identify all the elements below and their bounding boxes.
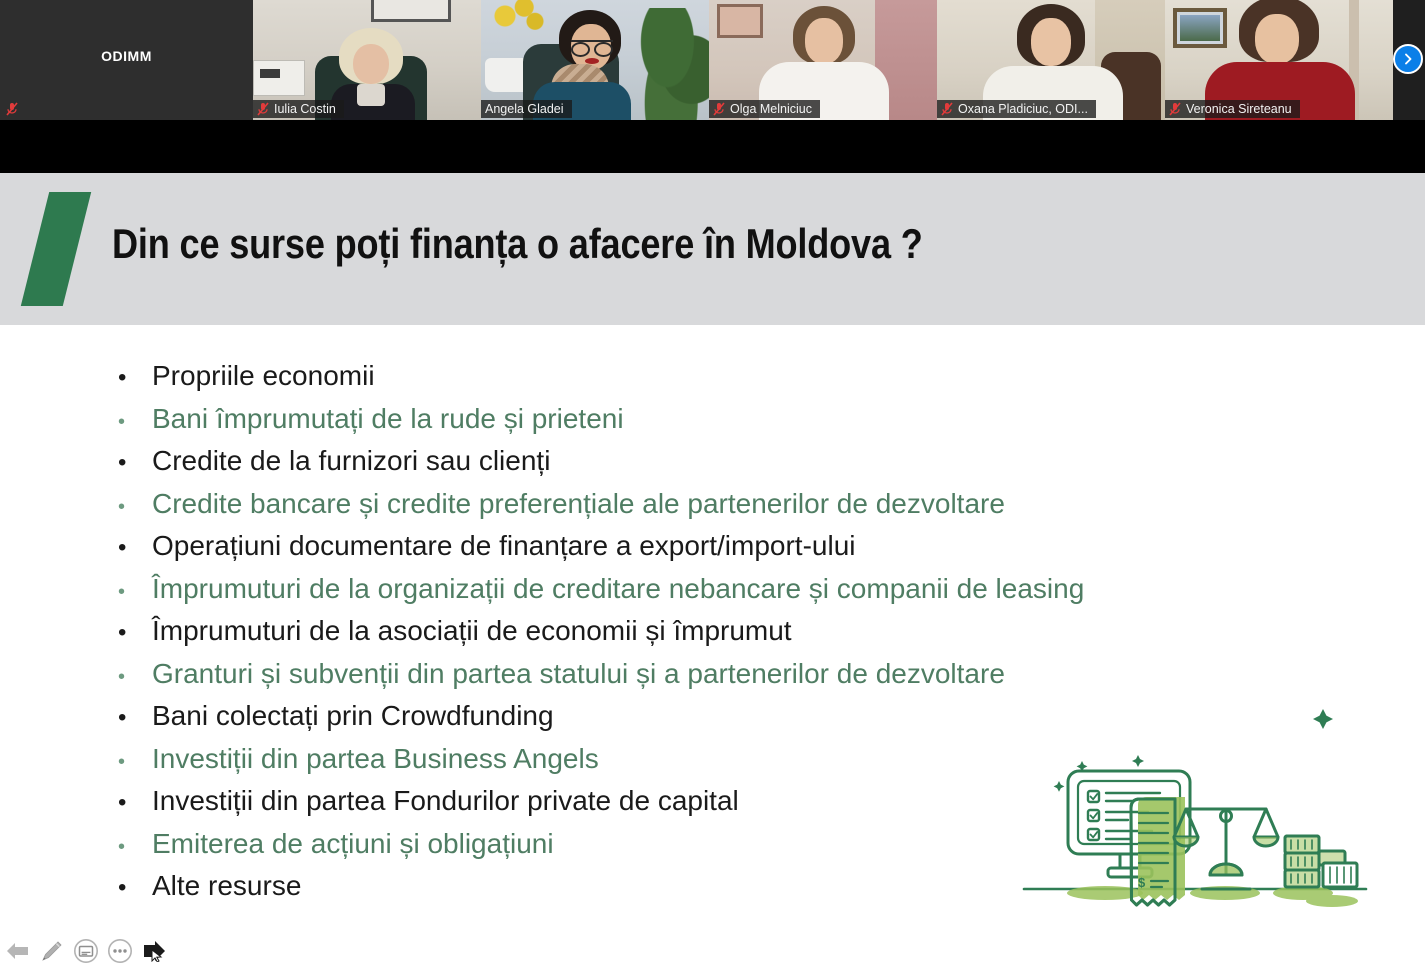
- participant-name: Olga Melniciuc: [730, 102, 812, 116]
- odimm-logo-label: ODIMM: [0, 48, 253, 64]
- presentation-screen: ODIMM Iulia Costin: [0, 0, 1425, 971]
- list-item: • Împrumuturi de la asociații de economi…: [0, 610, 1425, 653]
- mic-muted-icon: [713, 102, 725, 116]
- list-item: • Credite bancare și credite preferenția…: [0, 483, 1425, 526]
- mic-muted-icon: [257, 102, 269, 116]
- forward-arrow-cursor-icon[interactable]: [139, 936, 168, 965]
- participant-nameplate: Olga Melniciuc: [709, 100, 820, 118]
- whiteboard-icon[interactable]: [71, 936, 100, 965]
- video-tile-oxana-pladiciuc[interactable]: Oxana Pladiciuc, ODI...: [937, 0, 1165, 120]
- participant-nameplate: Angela Gladei: [481, 100, 572, 118]
- bullet-dot-icon: •: [118, 867, 152, 910]
- video-tile-veronica-sireteanu[interactable]: Veronica Sireteanu: [1165, 0, 1393, 120]
- list-item: • Bani colectați prin Crowdfunding: [0, 695, 1425, 738]
- list-item-label: Bani împrumutați de la rude și prieteni: [152, 398, 624, 441]
- pencil-icon[interactable]: [37, 936, 66, 965]
- more-options-icon[interactable]: [105, 936, 134, 965]
- mic-muted-icon: [941, 102, 953, 116]
- list-item: • Alte resurse: [0, 865, 1425, 908]
- bullet-dot-icon: •: [118, 401, 152, 444]
- video-tile-olga-melniciuc[interactable]: Olga Melniciuc: [709, 0, 937, 120]
- bullet-dot-icon: •: [118, 486, 152, 529]
- participant-nameplate: Veronica Sireteanu: [1165, 100, 1300, 118]
- participant-name: Angela Gladei: [485, 102, 564, 116]
- bullet-dot-icon: •: [118, 782, 152, 825]
- bullet-dot-icon: •: [118, 697, 152, 740]
- back-arrow-icon[interactable]: [3, 936, 32, 965]
- presentation-toolbar: [0, 930, 170, 971]
- participant-nameplate: Oxana Pladiciuc, ODI...: [937, 100, 1096, 118]
- slide-header: Din ce surse poți finanța o afacere în M…: [0, 173, 1425, 325]
- video-tile-angela-gladei[interactable]: Angela Gladei: [481, 0, 709, 120]
- list-item-label: Credite de la furnizori sau clienți: [152, 440, 550, 483]
- participant-name: Iulia Costin: [274, 102, 336, 116]
- participant-name: Oxana Pladiciuc, ODI...: [958, 102, 1088, 116]
- list-item: • Credite de la furnizori sau clienți: [0, 440, 1425, 483]
- list-item-label: Credite bancare și credite preferențiale…: [152, 483, 1005, 526]
- list-item-label: Granturi și subvenții din partea statulu…: [152, 653, 1005, 696]
- screen-share-letterbox: [0, 120, 1425, 173]
- bullet-dot-icon: •: [118, 826, 152, 869]
- bullet-dot-icon: •: [118, 527, 152, 570]
- list-item: • Investiții din partea Fondurilor priva…: [0, 780, 1425, 823]
- video-tile-odimm-logo[interactable]: ODIMM: [0, 0, 253, 120]
- list-item-label: Investiții din partea Business Angels: [152, 738, 599, 781]
- participant-nameplate: Iulia Costin: [253, 100, 344, 118]
- list-item: • Bani împrumutați de la rude și prieten…: [0, 398, 1425, 441]
- list-item: • Operațiuni documentare de finanțare a …: [0, 525, 1425, 568]
- list-item: • Împrumuturi de la organizații de credi…: [0, 568, 1425, 611]
- list-item-label: Propriile economii: [152, 355, 375, 398]
- list-item-label: Împrumuturi de la organizații de credita…: [152, 568, 1084, 611]
- bullet-dot-icon: •: [118, 741, 152, 784]
- list-item: • Investiții din partea Business Angels: [0, 738, 1425, 781]
- accent-bar-icon: [21, 192, 91, 306]
- bullet-dot-icon: •: [118, 442, 152, 485]
- bullet-dot-icon: •: [118, 612, 152, 655]
- bullet-dot-icon: •: [118, 571, 152, 614]
- list-item-label: Bani colectați prin Crowdfunding: [152, 695, 554, 738]
- list-item-label: Emiterea de acțiuni și obligațiuni: [152, 823, 554, 866]
- logo-tile-nameplate: [0, 100, 26, 118]
- mic-muted-icon: [6, 102, 18, 116]
- list-item-label: Alte resurse: [152, 865, 301, 908]
- video-filmstrip: ODIMM Iulia Costin: [0, 0, 1425, 120]
- chevron-right-icon[interactable]: [1393, 44, 1423, 74]
- list-item-label: Împrumuturi de la asociații de economii …: [152, 610, 792, 653]
- bullet-dot-icon: •: [118, 357, 152, 400]
- participant-name: Veronica Sireteanu: [1186, 102, 1292, 116]
- shared-slide: Din ce surse poți finanța o afacere în M…: [0, 173, 1425, 971]
- list-item-label: Operațiuni documentare de finanțare a ex…: [152, 525, 856, 568]
- list-item-label: Investiții din partea Fondurilor private…: [152, 780, 739, 823]
- list-item: • Granturi și subvenții din partea statu…: [0, 653, 1425, 696]
- video-tile-iulia-costin[interactable]: Iulia Costin: [253, 0, 481, 120]
- list-item: • Emiterea de acțiuni și obligațiuni: [0, 823, 1425, 866]
- slide-bullet-list: • Propriile economii • Bani împrumutați …: [0, 355, 1425, 908]
- mic-muted-icon: [1169, 102, 1181, 116]
- bullet-dot-icon: •: [118, 656, 152, 699]
- page-title: Din ce surse poți finanța o afacere în M…: [112, 220, 923, 268]
- list-item: • Propriile economii: [0, 355, 1425, 398]
